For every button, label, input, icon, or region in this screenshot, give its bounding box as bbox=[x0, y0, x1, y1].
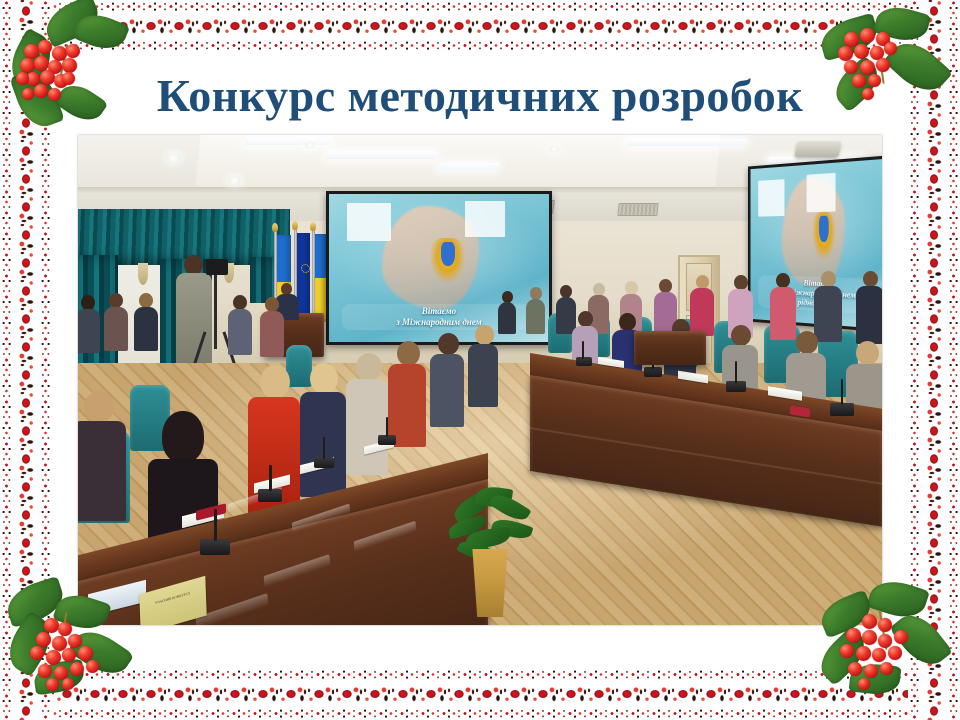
person-head bbox=[81, 295, 95, 310]
person-head bbox=[696, 275, 709, 289]
person-head bbox=[578, 311, 593, 327]
person-head bbox=[109, 293, 123, 308]
border-chain-top-outer bbox=[0, 0, 960, 13]
person-body bbox=[176, 273, 212, 367]
person-body bbox=[78, 309, 100, 353]
person-head bbox=[776, 273, 790, 288]
person-head bbox=[260, 365, 290, 399]
kalyna-berry bbox=[68, 634, 82, 648]
ceiling-downlight bbox=[228, 176, 241, 185]
microphone-arm bbox=[582, 341, 584, 359]
border-chain-left-inner bbox=[39, 0, 52, 720]
attendee bbox=[300, 363, 346, 495]
attendee bbox=[388, 341, 426, 445]
kalyna-berry bbox=[862, 630, 877, 645]
person-head bbox=[310, 363, 338, 394]
person-head bbox=[162, 411, 204, 463]
border-chain-right-inner bbox=[908, 0, 921, 720]
presentation-slide: Вітаємо з Міжнародним днем Вітаємо з Між… bbox=[0, 0, 960, 720]
attendee bbox=[468, 325, 498, 405]
flag-finial-icon bbox=[310, 222, 316, 231]
kalyna-berry bbox=[872, 648, 886, 662]
ceiling-strip-light bbox=[625, 139, 746, 146]
microphone-arm bbox=[214, 509, 217, 541]
microphone-arm bbox=[735, 361, 737, 383]
person-body bbox=[228, 309, 252, 355]
person-head bbox=[84, 391, 114, 423]
attendee bbox=[78, 295, 100, 351]
potted-plant bbox=[446, 487, 534, 617]
ceiling-strip-light bbox=[325, 151, 438, 159]
microphone-base bbox=[576, 357, 592, 366]
flag-finial-icon bbox=[272, 223, 278, 232]
ceiling-strip-light bbox=[437, 163, 499, 170]
conference-photo: Вітаємо з Міжнародним днем Вітаємо з Між… bbox=[78, 135, 882, 625]
attendee bbox=[526, 287, 545, 333]
person-head bbox=[731, 325, 751, 346]
person-head bbox=[438, 333, 459, 355]
screen-logo-right bbox=[807, 172, 836, 212]
kalyna-berry bbox=[888, 646, 902, 660]
ukrainian-coat-of-arms-icon bbox=[812, 211, 835, 260]
curtain-tassel bbox=[138, 263, 148, 285]
hvac-vent bbox=[617, 203, 658, 216]
border-chain-right-outer bbox=[947, 0, 960, 720]
person-head bbox=[475, 325, 494, 345]
side-cabinet bbox=[634, 331, 706, 365]
border-chain-left-outer bbox=[0, 0, 13, 720]
person-head bbox=[734, 275, 748, 290]
ceiling-strip-light bbox=[244, 137, 331, 145]
attendee bbox=[770, 273, 796, 339]
kalyna-berry bbox=[52, 636, 67, 651]
kalyna-berry bbox=[54, 74, 68, 88]
page-title: Конкурс методичних розробок bbox=[70, 68, 890, 124]
person-head bbox=[139, 293, 153, 308]
person-head bbox=[184, 255, 203, 275]
kalyna-berry bbox=[894, 630, 908, 644]
attendee bbox=[260, 297, 284, 355]
person-head bbox=[397, 341, 420, 366]
border-roses-bottom bbox=[0, 681, 960, 707]
person-head bbox=[659, 279, 672, 293]
person-head bbox=[856, 341, 879, 365]
ceiling-downlight bbox=[548, 145, 560, 153]
border-roses-right bbox=[921, 0, 947, 720]
person-head bbox=[619, 313, 636, 331]
person-head bbox=[863, 271, 878, 287]
person-head bbox=[233, 295, 247, 310]
screen-logo-right bbox=[465, 201, 505, 237]
person-head bbox=[796, 331, 818, 354]
person-head bbox=[265, 297, 279, 312]
person-body bbox=[498, 302, 516, 334]
microphone-arm bbox=[269, 465, 272, 491]
microphone-arm bbox=[386, 417, 388, 437]
person-body bbox=[260, 311, 284, 357]
kalyna-stem bbox=[59, 612, 68, 652]
attendee bbox=[134, 293, 158, 349]
person-body bbox=[856, 286, 882, 344]
microphone-base bbox=[200, 539, 230, 555]
border-chain-top-inner bbox=[0, 39, 960, 52]
person-head bbox=[356, 353, 382, 381]
person-body bbox=[468, 344, 498, 407]
border-chain-bottom-inner bbox=[0, 668, 960, 681]
camera-tripod bbox=[214, 275, 217, 349]
attendee bbox=[346, 353, 388, 473]
ceiling-downlight bbox=[166, 153, 181, 163]
attendee bbox=[78, 391, 126, 519]
microphone-arm bbox=[323, 437, 325, 459]
person-body bbox=[134, 307, 158, 351]
screen-logo-left bbox=[347, 203, 391, 241]
attendee bbox=[856, 271, 882, 343]
person-head bbox=[625, 281, 638, 295]
ceiling-downlight bbox=[304, 141, 316, 149]
border-chain-bottom-outer bbox=[0, 707, 960, 720]
kalyna-berry bbox=[878, 634, 892, 648]
planter-pot bbox=[470, 549, 510, 617]
video-camera-icon bbox=[206, 259, 228, 275]
kalyna-berry bbox=[856, 646, 871, 661]
attendee bbox=[430, 333, 464, 425]
screen-surface: Вітаємо з Міжнародним днем bbox=[329, 194, 549, 342]
person-body bbox=[346, 379, 388, 475]
person-body bbox=[526, 299, 545, 334]
microphone-arm bbox=[841, 379, 843, 405]
person-body bbox=[78, 421, 126, 521]
kalyna-berry bbox=[58, 622, 72, 636]
ceiling-projector bbox=[794, 141, 841, 157]
kalyna-berry bbox=[840, 644, 854, 658]
border-roses-left bbox=[13, 0, 39, 720]
attendee bbox=[228, 295, 252, 353]
person-body bbox=[104, 307, 128, 351]
attendee bbox=[498, 291, 516, 333]
projection-screen-center: Вітаємо з Міжнародним днем bbox=[326, 191, 552, 345]
border-roses-top bbox=[0, 13, 960, 39]
screen-logo-left bbox=[758, 179, 784, 217]
kalyna-berry bbox=[78, 646, 93, 661]
person-head bbox=[821, 271, 836, 287]
flag-finial-icon bbox=[292, 221, 298, 230]
attendee bbox=[104, 293, 128, 349]
kalyna-berry bbox=[846, 628, 861, 643]
person-body bbox=[430, 354, 464, 427]
kalyna-berry bbox=[62, 648, 76, 662]
ukrainian-coat-of-arms-icon bbox=[430, 238, 465, 282]
